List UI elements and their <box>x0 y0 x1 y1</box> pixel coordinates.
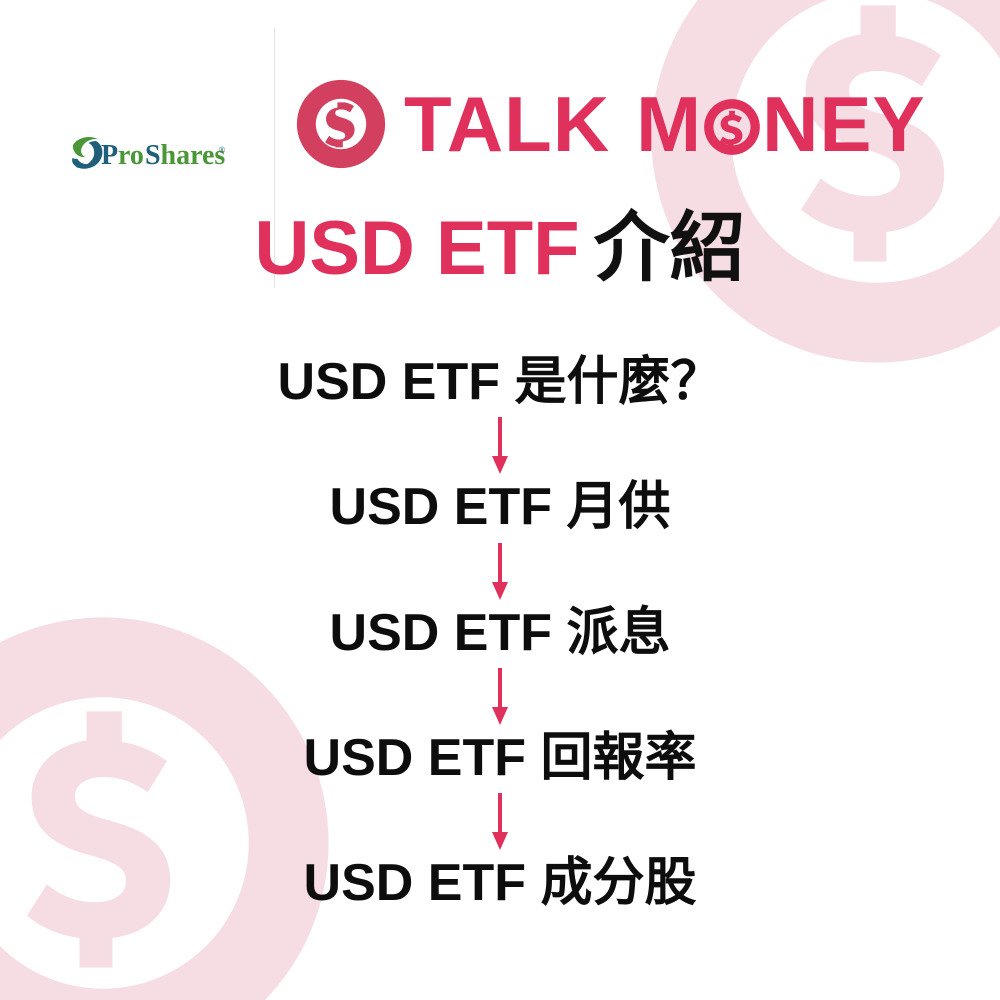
talk-money-logo: TALK M NEY <box>296 76 926 172</box>
proshares-swoosh-icon <box>72 137 102 169</box>
proshares-logo: P ro S hares ® <box>66 133 226 179</box>
flow-step-label: USD ETF 派息 <box>330 603 671 664</box>
flow-step-1: USD ETF 是什麼？ <box>278 352 723 477</box>
flow-step-5: USD ETF 成分股 <box>304 853 697 914</box>
flow-step-label: USD ETF 成分股 <box>304 853 697 914</box>
svg-text:ro: ro <box>118 140 144 171</box>
arrow-down-icon <box>492 417 508 475</box>
flow-step-label: USD ETF 月供 <box>330 477 671 538</box>
flow-step-4: USD ETF 回報率 <box>304 728 697 853</box>
dollar-coin-letter-o-icon <box>703 98 761 156</box>
talk-money-wordmark: TALK M NEY <box>404 85 926 163</box>
svg-text:S: S <box>145 140 161 171</box>
page-title-english: USD ETF <box>254 206 579 291</box>
dollar-coin-icon <box>296 79 386 169</box>
flow-step-3: USD ETF 派息 <box>330 603 671 728</box>
page-title: USD ETF介紹 <box>0 206 1000 291</box>
flow-step-label: USD ETF 回報率 <box>304 728 697 789</box>
topic-flow-list: USD ETF 是什麼？ USD ETF 月供 USD ETF 派息 <box>0 352 1000 915</box>
wordmark-money-m: M <box>636 85 702 163</box>
proshares-wordmark: P ro S hares ® <box>101 140 226 171</box>
svg-text:®: ® <box>219 145 226 155</box>
arrow-down-icon <box>492 543 508 601</box>
wordmark-money-ney: NEY <box>762 85 925 163</box>
svg-text:P: P <box>101 140 118 171</box>
wordmark-talk: TALK <box>404 85 610 163</box>
arrow-down-icon <box>492 793 508 851</box>
coin-watermark-top-right <box>642 0 1000 372</box>
svg-text:hares: hares <box>161 140 226 171</box>
arrow-down-icon <box>492 668 508 726</box>
flow-step-2: USD ETF 月供 <box>330 477 671 602</box>
page-title-chinese: 介紹 <box>594 206 746 291</box>
flow-step-label: USD ETF 是什麼？ <box>278 352 723 413</box>
poster-canvas: P ro S hares ® TALK M <box>0 0 1000 1000</box>
